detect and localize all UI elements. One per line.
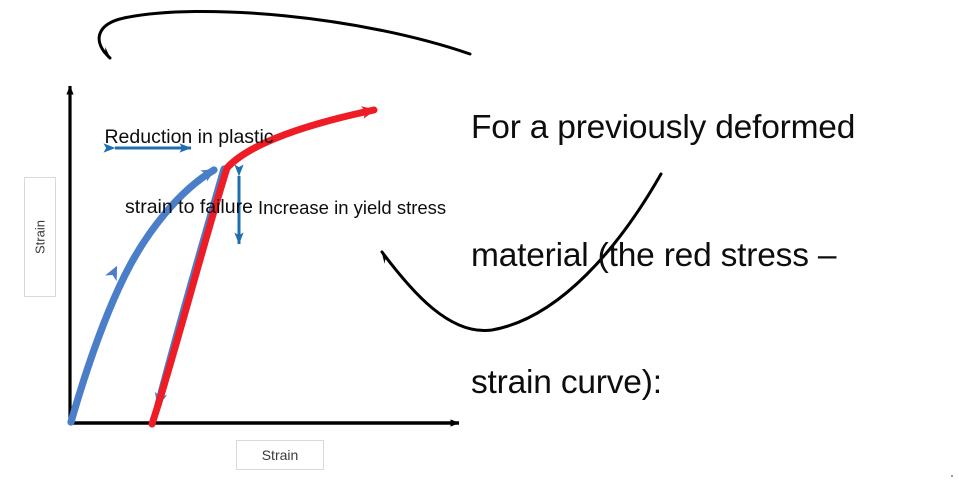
callout-reduction-line-1: Reduction in plastic [84, 126, 294, 149]
body-text: For a previously deformed material (the … [471, 22, 941, 482]
slide-canvas: For a previously deformed material (the … [0, 0, 959, 482]
y-axis-label-text: Strain [33, 220, 48, 254]
corner-marker-dot [951, 475, 953, 477]
body-text-line-3: strain curve): [471, 362, 941, 405]
pointer-to-reduction-callout [99, 11, 470, 58]
body-text-line-1: For a previously deformed [471, 107, 941, 150]
x-axis-label-text: Strain [262, 447, 299, 463]
x-axis-label-box: Strain [236, 440, 324, 470]
callout-increase-in-yield-stress: Increase in yield stress [258, 197, 446, 218]
callout-reduction-in-plastic-strain: Reduction in plastic strain to failure [84, 79, 294, 266]
y-axis-label-box: Strain [24, 177, 56, 297]
body-text-line-2: material (the red stress – [471, 235, 941, 278]
